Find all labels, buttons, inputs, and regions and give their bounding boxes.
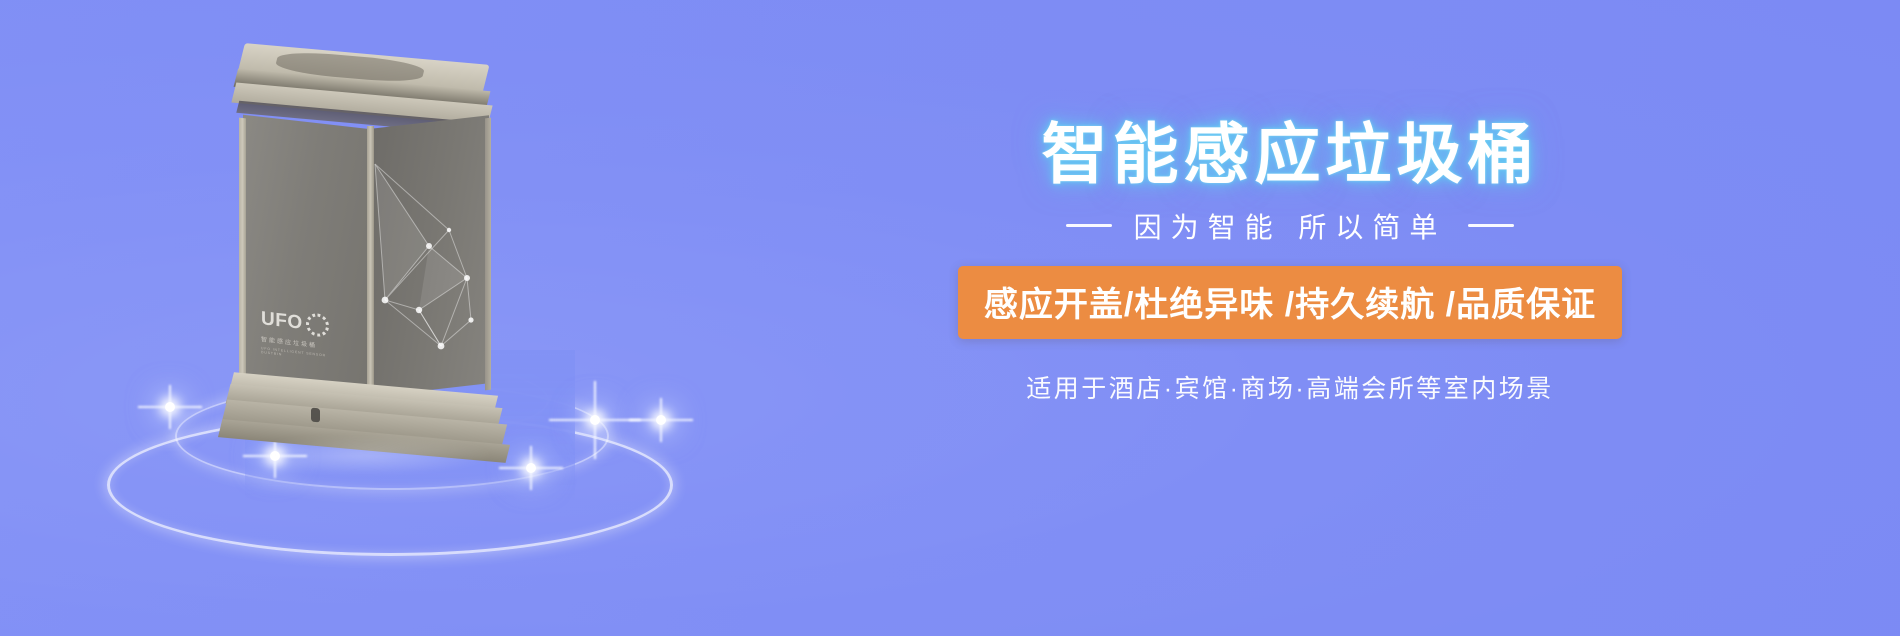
network-graphic	[371, 160, 491, 390]
subtitle-text: 因为智能 所以简单	[1134, 206, 1447, 246]
bin-edge-left	[239, 118, 246, 391]
promo-banner: UFO 智能感应垃圾桶 UFO INTELLIGENT SENSOR DUSTB…	[0, 0, 1900, 636]
sensor-slot-icon	[311, 408, 320, 423]
trash-bin-render: UFO 智能感应垃圾桶 UFO INTELLIGENT SENSOR DUSTB…	[215, 40, 545, 460]
subtitle-row: 因为智能 所以简单	[880, 206, 1700, 246]
dash-left-icon	[1066, 224, 1112, 227]
logo-ring-icon	[306, 312, 329, 338]
product-logo: UFO 智能感应垃圾桶 UFO INTELLIGENT SENSOR DUSTB…	[261, 307, 347, 371]
product-illustration: UFO 智能感应垃圾桶 UFO INTELLIGENT SENSOR DUSTB…	[95, 40, 735, 560]
footer-text: 适用于酒店·宾馆·商场·高端会所等室内场景	[880, 369, 1700, 405]
ground-glow	[185, 432, 545, 478]
logo-text: UFO	[261, 309, 303, 333]
copy-block: 智能感应垃圾桶 因为智能 所以简单 感应开盖/杜绝异味 /持久续航 /品质保证 …	[880, 118, 1700, 405]
dash-right-icon	[1468, 224, 1514, 227]
feature-badge: 感应开盖/杜绝异味 /持久续航 /品质保证	[958, 266, 1622, 339]
headline: 智能感应垃圾桶	[880, 118, 1700, 192]
